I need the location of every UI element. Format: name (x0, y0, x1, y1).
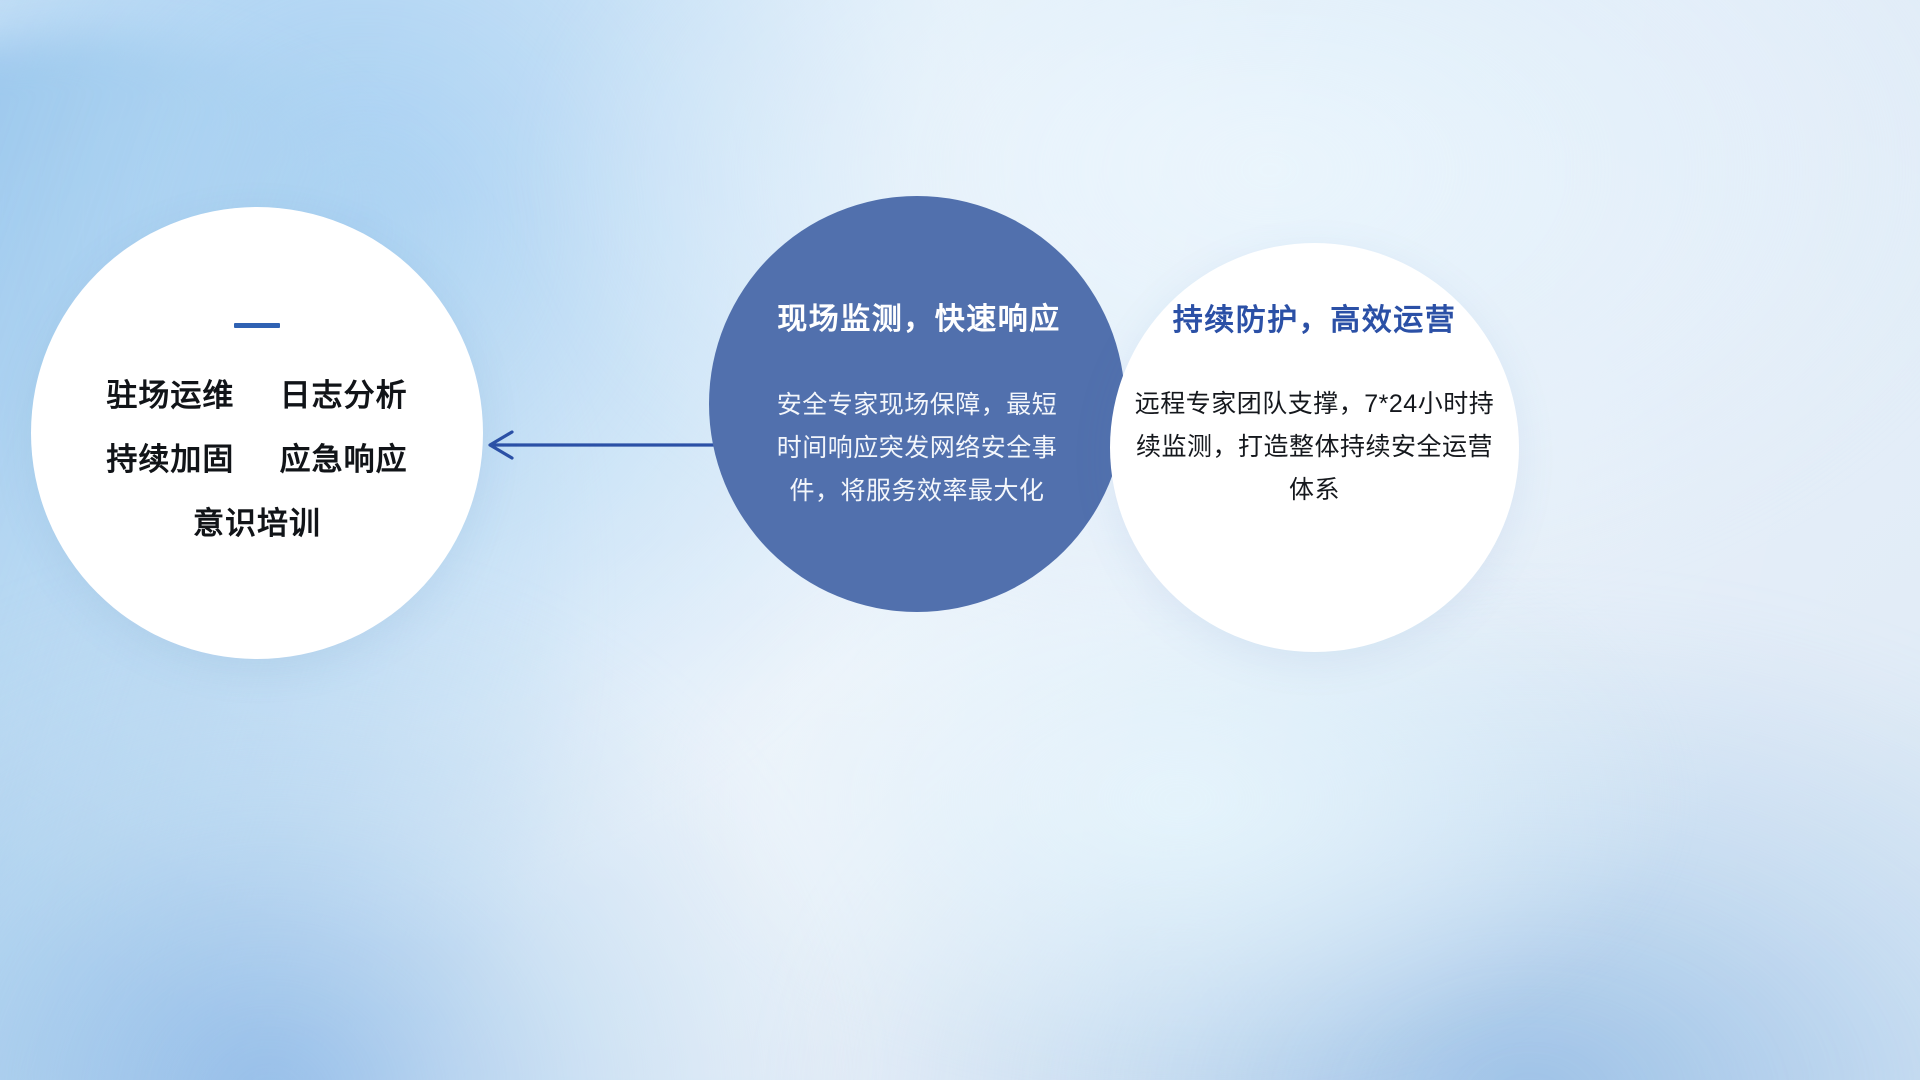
mid-circle-title: 现场监测，快速响应 (777, 294, 1061, 338)
keyword-row: 意识培训 (193, 498, 321, 543)
mid-feature-circle[interactable]: 现场监测，快速响应 安全专家现场保障，最短时间响应突发网络安全事件，将服务效率最… (709, 196, 1125, 612)
keyword-row: 驻场运维 日志分析 (106, 370, 407, 415)
right-circle-body: 远程专家团队支撑，7*24小时持续监测，打造整体持续安全运营体系 (1135, 383, 1495, 512)
mid-circle-body: 安全专家现场保障，最短时间响应突发网络安全事件，将服务效率最大化 (767, 384, 1067, 513)
keyword-label: 日志分析 (280, 378, 408, 413)
keyword-label: 意识培训 (193, 506, 321, 541)
keyword-label: 驻场运维 (106, 378, 234, 413)
keyword-row: 持续加固 应急响应 (106, 434, 407, 479)
left-keyword-circle[interactable]: 驻场运维 日志分析 持续加固 应急响应 意识培训 (31, 207, 483, 659)
slide-canvas: 驻场运维 日志分析 持续加固 应急响应 意识培训 现场监测，快速响应 安全专家现… (0, 0, 1920, 1080)
keyword-label: 持续加固 (106, 442, 234, 477)
short-dash-divider (234, 323, 280, 328)
right-feature-circle[interactable]: 持续防护，高效运营 远程专家团队支撑，7*24小时持续监测，打造整体持续安全运营… (1110, 243, 1519, 652)
right-circle-title: 持续防护，高效运营 (1173, 295, 1457, 339)
keyword-list: 驻场运维 日志分析 持续加固 应急响应 意识培训 (106, 370, 407, 543)
keyword-label: 应急响应 (280, 442, 408, 477)
